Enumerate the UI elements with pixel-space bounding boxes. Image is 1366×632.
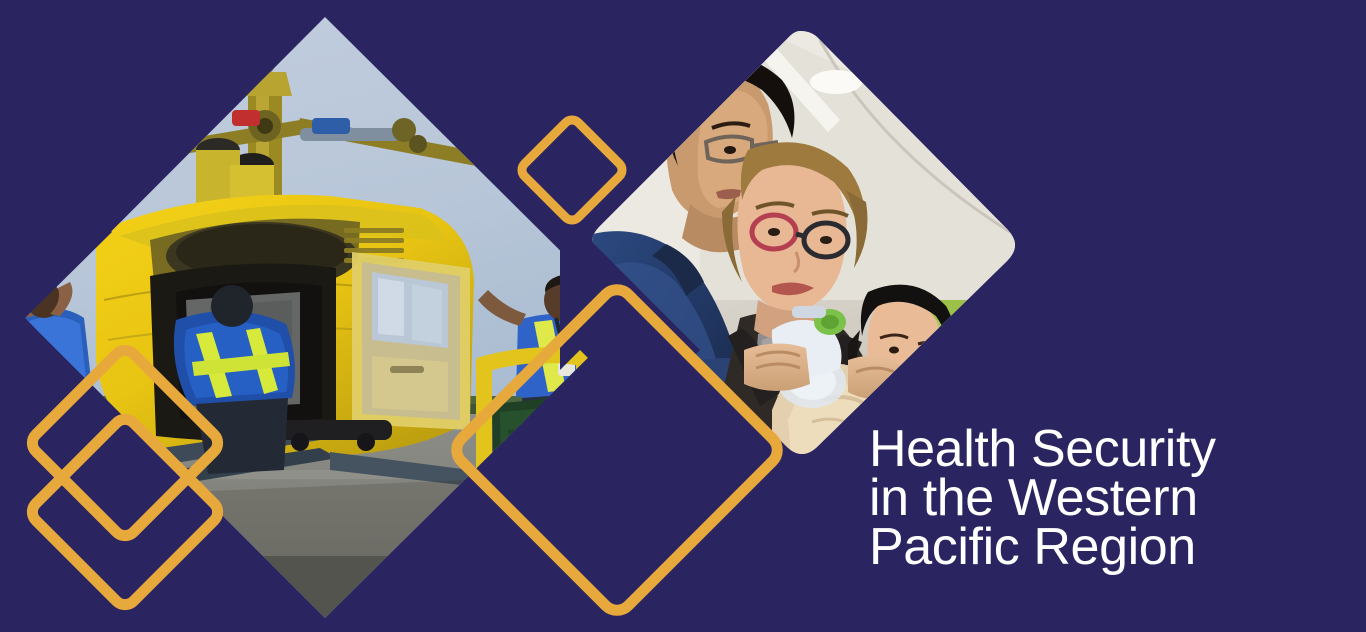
helicopter-door: [352, 252, 470, 430]
page-title-line-3: Pacific Region: [869, 523, 1349, 572]
page-title-line-1: Health Security: [869, 425, 1349, 474]
page-title: Health Security in the Western Pacific R…: [869, 425, 1349, 572]
page-title-line-2: in the Western: [869, 474, 1349, 523]
health-security-banner: LYG-1016: [0, 0, 1366, 632]
